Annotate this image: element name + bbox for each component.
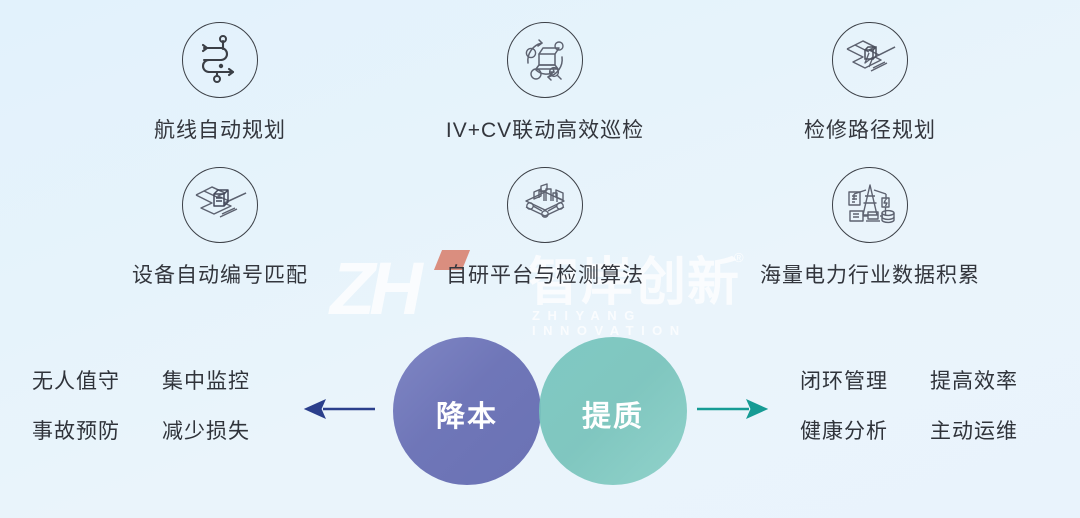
grid-route-icon <box>832 22 908 98</box>
outcomes-right-row: 健康分析 主动运维 <box>800 415 1018 445</box>
feature-item-route-planning: 航线自动规划 <box>80 22 360 144</box>
feature-item-self-dev-platform: 自研平台与检测算法 <box>405 167 685 289</box>
infographic-canvas: ZH 智岸创新 ® ZHIYANG INNOVATION <box>0 0 1080 518</box>
arrow-left-icon <box>303 396 375 427</box>
outcome-item: 主动运维 <box>930 415 1018 445</box>
iv-cv-loop-icon <box>507 22 583 98</box>
outcomes-left-row: 无人值守 集中监控 <box>32 365 250 395</box>
arrow-right-icon <box>697 396 769 427</box>
platform-algorithm-icon <box>507 167 583 243</box>
outcome-item: 减少损失 <box>162 415 250 445</box>
feature-label: 检修路径规划 <box>730 114 1010 144</box>
feature-label: 设备自动编号匹配 <box>80 259 360 289</box>
outcome-item: 提高效率 <box>930 365 1018 395</box>
outcome-item: 闭环管理 <box>800 365 888 395</box>
feature-item-auto-device-numbering: 设备自动编号匹配 <box>80 167 360 289</box>
venn-diagram: 降本 提质 <box>393 335 687 488</box>
outcomes-left: 无人值守 集中监控 事故预防 减少损失 <box>32 365 250 465</box>
outcome-item: 集中监控 <box>162 365 250 395</box>
outcomes-right-row: 闭环管理 提高效率 <box>800 365 1018 395</box>
venn-label-right: 提质 <box>553 393 673 435</box>
watermark-brand-en: ZHIYANG INNOVATION <box>532 308 760 338</box>
feature-label: 自研平台与检测算法 <box>405 259 685 289</box>
outcome-item: 事故预防 <box>32 415 120 445</box>
outcomes-left-row: 事故预防 减少损失 <box>32 415 250 445</box>
outcome-item: 无人值守 <box>32 365 120 395</box>
power-data-icon <box>832 167 908 243</box>
venn-label-left: 降本 <box>407 393 527 435</box>
outcome-item: 健康分析 <box>800 415 888 445</box>
feature-item-iv-cv-inspection: IV+CV联动高效巡检 <box>405 22 685 144</box>
outcomes-right: 闭环管理 提高效率 健康分析 主动运维 <box>800 365 1018 465</box>
feature-label: 海量电力行业数据积累 <box>730 259 1010 289</box>
grid-device-icon <box>182 167 258 243</box>
feature-item-maintenance-route: 检修路径规划 <box>730 22 1010 144</box>
feature-label: IV+CV联动高效巡检 <box>405 114 685 144</box>
flight-path-icon <box>182 22 258 98</box>
feature-item-power-data: 海量电力行业数据积累 <box>730 167 1010 289</box>
feature-label: 航线自动规划 <box>80 114 360 144</box>
